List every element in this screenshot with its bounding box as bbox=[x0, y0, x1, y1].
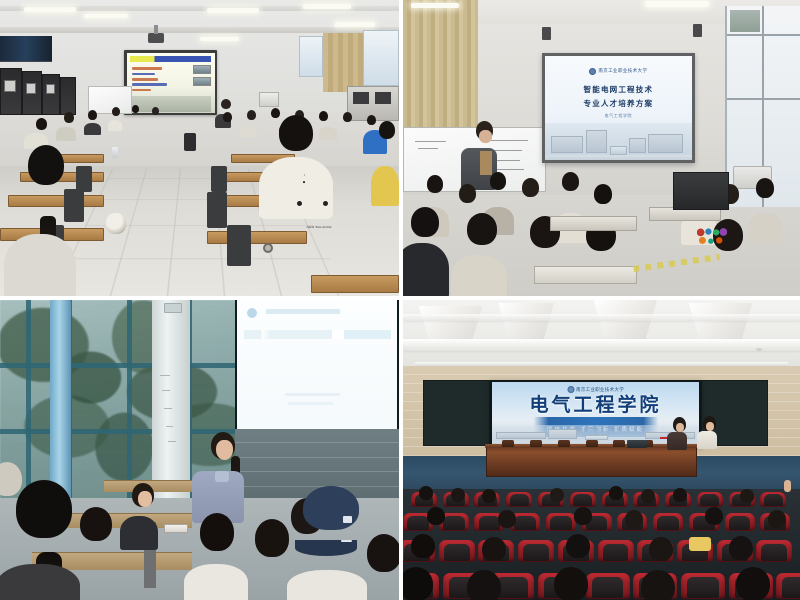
tl-cabinet-panel bbox=[4, 80, 16, 92]
tl-desk bbox=[207, 231, 307, 244]
tr-slide-university-name: 南京工业职业技术大学 bbox=[598, 68, 647, 74]
br-host-body bbox=[667, 432, 687, 450]
bl-student-head-foreground bbox=[16, 480, 72, 538]
br-seat bbox=[439, 540, 475, 562]
tl-equipment-cabinet bbox=[0, 68, 22, 115]
tl-student-body bbox=[84, 123, 101, 135]
bl-screen-text-line bbox=[266, 309, 339, 314]
br-audience-head bbox=[566, 534, 590, 558]
br-table-chair bbox=[586, 440, 598, 447]
collage-photo-top-left: NEW BALANCE bbox=[0, 0, 399, 296]
bl-column-mark bbox=[168, 441, 176, 442]
tl-ceiling-light bbox=[84, 14, 128, 19]
tr-student-head bbox=[427, 175, 443, 193]
tl-student-head bbox=[132, 105, 139, 113]
br-audience-head bbox=[740, 489, 754, 503]
tl-cabinet-panel bbox=[353, 92, 369, 104]
bl-cap-brim bbox=[295, 540, 357, 556]
tl-equipment-cabinet bbox=[42, 74, 60, 115]
br-table-chair bbox=[530, 440, 542, 447]
bl-screen-text-line bbox=[285, 393, 339, 396]
br-seat bbox=[756, 540, 792, 562]
tl-desk bbox=[8, 195, 104, 206]
tr-slide-subtitle: 电气工程学院 bbox=[605, 113, 633, 119]
br-audience-head bbox=[482, 489, 496, 503]
bl-column-mark bbox=[164, 408, 173, 409]
br-audience-head bbox=[609, 486, 623, 500]
bl-window-mullion bbox=[127, 300, 132, 504]
tr-lecturer-face bbox=[479, 130, 492, 143]
tl-slide-text-line bbox=[132, 73, 155, 76]
tl-cabinet-panel bbox=[46, 84, 56, 94]
bl-student-head-foreground bbox=[255, 519, 289, 557]
br-table-chair bbox=[558, 440, 570, 447]
tl-student-head bbox=[152, 107, 159, 115]
bl-student-body bbox=[120, 516, 158, 550]
bl-student-head-foreground bbox=[367, 534, 399, 572]
br-seat bbox=[697, 492, 723, 507]
bl-student-head-foreground bbox=[80, 507, 112, 541]
br-seat bbox=[598, 540, 634, 562]
br-audience-head bbox=[427, 507, 445, 525]
bl-column-mark bbox=[160, 375, 170, 376]
tr-student-head bbox=[756, 178, 774, 198]
tl-student-body bbox=[239, 124, 257, 137]
br-seat bbox=[570, 492, 596, 507]
bl-concrete-column bbox=[152, 300, 190, 510]
br-audience-head-foreground bbox=[554, 567, 588, 600]
tl-plush-toy bbox=[106, 213, 126, 234]
tl-slide-text-line bbox=[132, 89, 151, 92]
tr-hoodie-stickers bbox=[697, 228, 727, 248]
br-audience-head bbox=[419, 486, 433, 500]
br-raised-hand bbox=[784, 480, 791, 492]
tl-window bbox=[363, 30, 399, 86]
bl-student-body-foreground bbox=[0, 564, 80, 600]
br-audience-head bbox=[705, 507, 723, 525]
tl-projector-mount bbox=[154, 25, 158, 34]
bl-student-head-foreground bbox=[200, 513, 234, 551]
bl-window-mullion bbox=[0, 429, 239, 434]
tr-student-head bbox=[490, 172, 506, 190]
bl-speaker-face bbox=[216, 440, 233, 460]
tl-chair bbox=[64, 189, 84, 222]
br-audience-head bbox=[649, 537, 673, 561]
br-audience-head bbox=[729, 536, 753, 560]
tl-student-head bbox=[36, 118, 47, 130]
br-host-body bbox=[697, 431, 717, 449]
tr-slide-plaza bbox=[545, 155, 692, 160]
tr-outside-building bbox=[730, 10, 761, 32]
tr-student-head-foreground bbox=[411, 207, 439, 237]
br-led-university-logo: 南京工业职业技术大学 bbox=[567, 386, 624, 393]
br-audience-head bbox=[673, 488, 687, 502]
bl-column-mark bbox=[162, 390, 170, 391]
tr-slide-campus-photo bbox=[545, 123, 692, 160]
br-audience-head bbox=[498, 510, 516, 528]
tr-whiteboard-writing bbox=[415, 141, 446, 142]
tr-whiteboard-writing bbox=[418, 148, 438, 149]
collage-divider-horizontal bbox=[0, 296, 800, 300]
bl-screen-app-icon bbox=[247, 308, 257, 318]
tr-whiteboard-writing bbox=[491, 140, 528, 141]
bl-column-mark bbox=[166, 426, 173, 427]
tl-ceiling-light bbox=[207, 8, 259, 13]
tl-cabinet-panel bbox=[375, 92, 391, 104]
tl-tshirt-graphic bbox=[291, 169, 317, 193]
br-led-building bbox=[548, 429, 577, 439]
br-audience-head-foreground bbox=[467, 570, 501, 600]
photo-collage: NEW BALANCE bbox=[0, 0, 800, 600]
bl-notebook bbox=[164, 524, 188, 533]
tr-student-head bbox=[594, 184, 612, 204]
tr-slide-building bbox=[586, 130, 607, 153]
tr-student-head bbox=[522, 178, 539, 197]
tl-ceiling-light bbox=[303, 4, 351, 9]
br-audience-head-foreground bbox=[403, 567, 433, 600]
br-seat bbox=[776, 573, 800, 599]
br-seat bbox=[518, 540, 554, 562]
bl-student-body-foreground bbox=[287, 570, 367, 600]
bl-speaker-collar bbox=[215, 471, 229, 482]
bl-panel-line bbox=[235, 457, 399, 458]
tl-wall-poster bbox=[0, 36, 52, 63]
tr-ceiling-light bbox=[645, 1, 709, 6]
tl-desk bbox=[311, 275, 399, 293]
tl-backpack bbox=[184, 133, 196, 151]
tl-wall-control-box bbox=[259, 92, 279, 107]
br-audience-head bbox=[550, 488, 564, 502]
br-ceiling-beam bbox=[403, 314, 800, 322]
bl-projection-screen bbox=[237, 300, 397, 442]
bl-projection-screen-frame bbox=[235, 300, 399, 444]
tr-student-head-foreground bbox=[467, 213, 497, 245]
collage-photo-bottom-right: 南京工业职业技术大学 电气工程学院 匠技并举 求实创新 提质赋能 2025级新生… bbox=[403, 300, 800, 600]
tl-student-head bbox=[379, 121, 395, 139]
tl-slide-header-bar bbox=[130, 56, 211, 61]
br-audience-head-foreground bbox=[736, 567, 770, 600]
tr-whiteboard-writing bbox=[493, 169, 524, 170]
tl-projection-screen bbox=[127, 53, 215, 113]
br-laptop bbox=[627, 440, 647, 448]
br-seat bbox=[725, 513, 755, 531]
tr-slide-title-line-1: 智能电网工程技术 bbox=[584, 84, 654, 95]
tr-equipment-rack bbox=[673, 172, 729, 210]
br-audience-head bbox=[411, 534, 435, 558]
br-seat bbox=[586, 573, 630, 599]
tl-slide-text-line bbox=[132, 83, 167, 86]
tr-student-body-foreground bbox=[403, 243, 449, 296]
tr-student-head bbox=[459, 184, 476, 203]
br-head-table bbox=[486, 446, 696, 478]
tl-slide-thumbnail bbox=[193, 65, 211, 75]
tl-student-head bbox=[271, 108, 280, 118]
tl-chair bbox=[207, 192, 227, 228]
tl-student-body bbox=[371, 166, 399, 206]
bl-ceiling-sensor bbox=[164, 303, 182, 313]
br-audience-head bbox=[451, 488, 465, 502]
tl-window bbox=[299, 36, 323, 77]
tl-equipment-cabinet bbox=[60, 77, 76, 115]
tl-student-body bbox=[108, 120, 122, 131]
bl-panel-line bbox=[235, 442, 399, 443]
br-audience-head bbox=[641, 489, 655, 503]
br-ceiling-beam bbox=[403, 339, 800, 351]
br-host-face bbox=[676, 423, 684, 432]
br-seat bbox=[506, 492, 532, 507]
tr-student-head bbox=[562, 172, 579, 191]
tl-student-head-foreground bbox=[28, 145, 64, 185]
tl-ceiling-light bbox=[24, 7, 76, 12]
br-led-main-title: 电气工程学院 bbox=[530, 396, 662, 415]
tl-chair bbox=[211, 166, 227, 193]
br-led-building bbox=[496, 432, 546, 439]
tl-student-head bbox=[64, 112, 74, 123]
br-wall-black-panel bbox=[423, 380, 490, 446]
tr-projection-screen: 南京工业职业技术大学 智能电网工程技术 专业人才培养方案 电气工程学院 bbox=[545, 56, 692, 160]
br-audience-head bbox=[574, 507, 592, 525]
tr-slide-title-line-2: 专业人才培养方案 bbox=[584, 98, 654, 109]
br-seat bbox=[653, 513, 683, 531]
tl-slide-text-line bbox=[132, 78, 158, 81]
tl-student-head bbox=[319, 111, 328, 121]
br-host-face bbox=[706, 422, 714, 431]
bl-baseball-cap bbox=[303, 486, 359, 530]
bl-window-mullion bbox=[0, 363, 239, 368]
tl-student-head bbox=[247, 110, 256, 120]
collage-photo-bottom-left bbox=[0, 300, 399, 600]
university-seal-icon bbox=[589, 68, 596, 75]
tl-student-body-foreground bbox=[4, 234, 76, 296]
bl-screen-text-line bbox=[288, 402, 333, 405]
collage-photo-top-right: 南京工业职业技术大学 智能电网工程技术 专业人才培养方案 电气工程学院 bbox=[403, 0, 800, 296]
br-seat bbox=[760, 492, 786, 507]
bl-drain-pipe bbox=[50, 300, 71, 504]
tl-ceiling-light bbox=[335, 22, 375, 26]
tr-speaker bbox=[542, 27, 551, 40]
firework-icon bbox=[291, 169, 317, 193]
bl-screen-toolbar bbox=[244, 330, 391, 339]
tr-slide-building bbox=[551, 136, 583, 153]
tr-student-body-foreground bbox=[451, 255, 507, 296]
tr-slide-building bbox=[648, 134, 683, 153]
tr-lecturer-shirt bbox=[480, 151, 492, 175]
tl-student-body bbox=[56, 127, 76, 141]
tl-student-body bbox=[319, 127, 337, 140]
tl-slide-photo-strip bbox=[130, 96, 211, 112]
bl-window-mullion bbox=[26, 300, 31, 504]
br-led-university-name: 南京工业职业技术大学 bbox=[576, 387, 624, 393]
bl-panel-line bbox=[235, 471, 399, 472]
tr-slide-university-logo: 南京工业职业技术大学 bbox=[589, 68, 647, 75]
br-audience-head bbox=[482, 537, 506, 561]
bl-cap-logo bbox=[343, 516, 352, 523]
br-table-chair bbox=[613, 440, 625, 447]
br-audience-head bbox=[768, 510, 786, 528]
university-seal-icon bbox=[567, 386, 574, 393]
tl-slide-thumbnail bbox=[193, 77, 211, 87]
tr-whiteboard-writing bbox=[497, 160, 520, 161]
tr-slide-campus-gate bbox=[610, 146, 628, 155]
br-audience-jacket bbox=[689, 537, 711, 551]
bl-cap-logo-text bbox=[341, 540, 352, 542]
tl-cabinet-panel bbox=[26, 83, 36, 94]
tr-projection-screen-frame: 南京工业职业技术大学 智能电网工程技术 专业人才培养方案 电气工程学院 bbox=[542, 53, 695, 163]
bl-panel-line bbox=[235, 486, 399, 487]
tl-ceiling-light bbox=[200, 37, 240, 41]
br-seat bbox=[681, 573, 725, 599]
tl-slide-text-line bbox=[132, 67, 162, 70]
tl-projector bbox=[148, 33, 164, 43]
tr-speaker bbox=[693, 24, 702, 37]
bl-student-face bbox=[138, 491, 152, 507]
tl-student-head-foreground bbox=[279, 115, 313, 151]
tr-ceiling-light bbox=[411, 3, 459, 8]
tl-tshirt-brand-text: NEW BALANCE bbox=[279, 225, 359, 229]
collage-divider-vertical bbox=[399, 0, 403, 600]
tr-slide-building bbox=[629, 138, 647, 153]
tl-curtain bbox=[323, 33, 363, 92]
tr-student-body bbox=[748, 213, 782, 243]
bl-student-body-foreground bbox=[184, 564, 248, 600]
br-seat bbox=[546, 513, 576, 531]
tl-water-bottle bbox=[112, 147, 118, 159]
br-table-chair bbox=[502, 440, 514, 447]
tr-whiteboard-writing bbox=[494, 150, 522, 151]
tl-chair bbox=[76, 166, 92, 193]
br-audience-head bbox=[625, 510, 643, 528]
tr-desk bbox=[534, 266, 637, 284]
tl-chair bbox=[227, 225, 251, 266]
br-audience-head-foreground bbox=[641, 570, 675, 600]
tr-desk bbox=[550, 216, 637, 231]
tl-student-head bbox=[88, 110, 97, 120]
tl-student-head bbox=[112, 107, 120, 116]
